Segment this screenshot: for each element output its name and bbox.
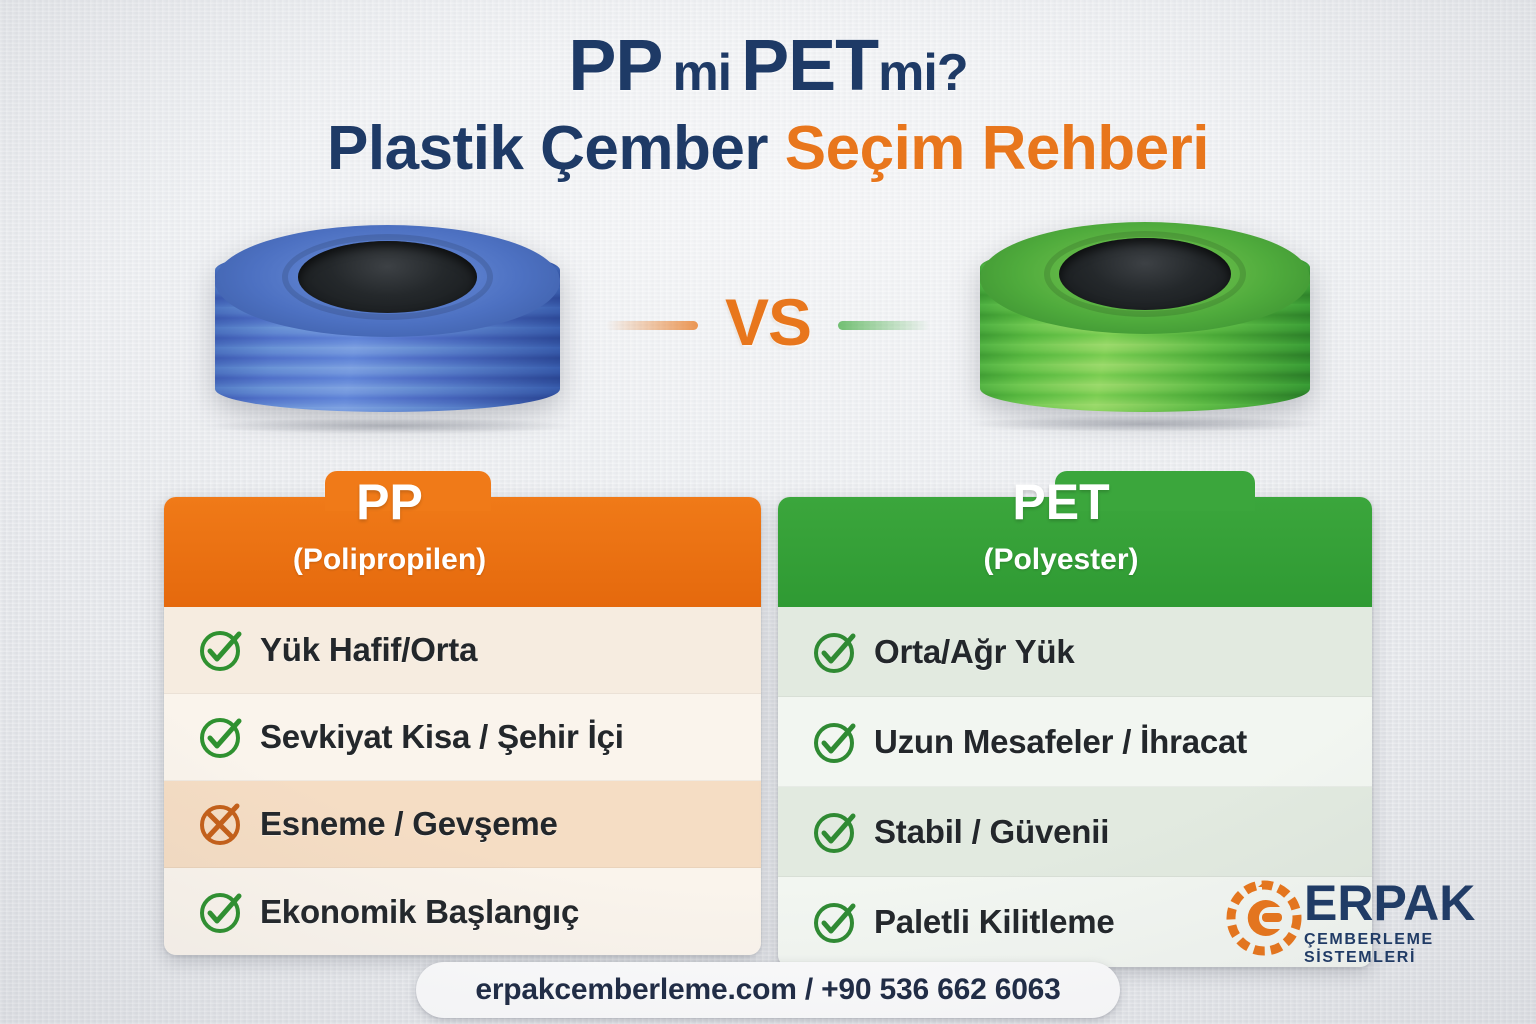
contact-text: erpakcemberleme.com / +90 536 662 6063 (475, 973, 1060, 1007)
card-subtitle-pp: (Polipropilen) (91, 543, 688, 577)
comparison-card-pp: PP (Polipropilen) Yük Hafif/Orta Sevkiya… (164, 497, 761, 955)
row-label: Ekonomik Başlangıç (260, 893, 579, 931)
check-circle-icon (810, 806, 874, 858)
card-subtitle-pet: (Polyester) (764, 543, 1358, 577)
vs-line-right-icon (838, 321, 930, 330)
row-label: Paletli Kilitleme (874, 903, 1115, 941)
table-row: Uzun Mesafeler / İhracat (778, 697, 1372, 787)
versus-separator: VS (664, 278, 872, 366)
check-circle-icon (196, 711, 260, 763)
erpak-logo: ERPAK ÇEMBERLEME SİSTEMLERİ (1226, 878, 1518, 960)
row-label: Sevkiyat Kisa / Şehir İçi (260, 718, 624, 756)
logo-name: ERPAK (1304, 875, 1475, 931)
pp-strapping-coil-blue (215, 225, 560, 430)
vs-line-left-icon (606, 321, 698, 330)
vs-label: VS (725, 284, 811, 360)
check-circle-icon (196, 886, 260, 938)
table-row: Stabil / Güvenii (778, 787, 1372, 877)
logo-text: ERPAK ÇEMBERLEME SİSTEMLERİ (1304, 878, 1518, 967)
title-mi-1: mi (672, 44, 731, 102)
card-header-pet: PET (Polyester) (778, 497, 1372, 607)
table-row: Sevkiyat Kisa / Şehir İçi (164, 694, 761, 781)
row-label: Orta/Ağr Yük (874, 633, 1075, 671)
gear-e-icon (1226, 880, 1302, 956)
title-line-2: Plastik Çember Seçim Rehberi (0, 118, 1536, 180)
title-pp: PP (568, 26, 662, 106)
cross-circle-icon (196, 798, 260, 850)
table-row: Esneme / Gevşeme (164, 781, 761, 868)
table-row: Ekonomik Başlangıç (164, 868, 761, 955)
row-label: Esneme / Gevşeme (260, 805, 558, 843)
card-header-pp: PP (Polipropilen) (164, 497, 761, 607)
check-circle-icon (810, 896, 874, 948)
table-row: Yük Hafif/Orta (164, 607, 761, 694)
card-code-pp: PP (91, 477, 688, 527)
pet-strapping-coil-green (980, 222, 1310, 430)
card-body-pp: Yük Hafif/Orta Sevkiyat Kisa / Şehir İçi… (164, 607, 761, 955)
logo-tagline: ÇEMBERLEME SİSTEMLERİ (1304, 931, 1518, 967)
row-label: Stabil / Güvenii (874, 813, 1109, 851)
page-title: PPmiPETmi? Plastik Çember Seçim Rehberi (0, 30, 1536, 180)
table-row: Orta/Ağr Yük (778, 607, 1372, 697)
row-label: Uzun Mesafeler / İhracat (874, 723, 1247, 761)
row-label: Yük Hafif/Orta (260, 631, 477, 669)
title-pet: PET (741, 26, 878, 106)
title-mi-2: mi? (878, 44, 967, 102)
subtitle-navy: Plastik Çember (327, 114, 768, 183)
check-circle-icon (196, 624, 260, 676)
card-code-pet: PET (764, 477, 1358, 527)
title-line-1: PPmiPETmi? (0, 30, 1536, 102)
check-circle-icon (810, 716, 874, 768)
contact-footer-pill[interactable]: erpakcemberleme.com / +90 536 662 6063 (416, 962, 1120, 1018)
check-circle-icon (810, 626, 874, 678)
subtitle-orange: Seçim Rehberi (785, 114, 1209, 183)
